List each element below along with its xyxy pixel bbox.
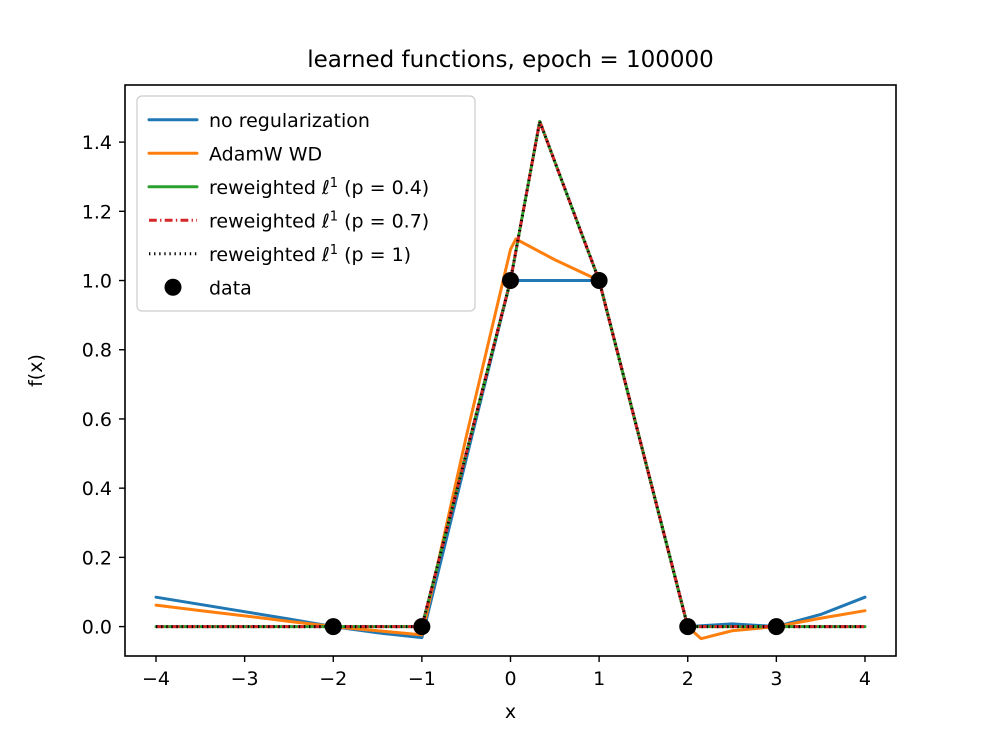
y-tick-label: 0.0 [82,617,112,639]
data-point-marker [679,618,696,635]
x-axis-label: x [505,701,516,723]
data-point-marker [591,272,608,289]
x-tick-label: −2 [319,668,347,690]
x-tick-label: 1 [593,668,605,690]
data-point-marker [413,618,430,635]
legend-label: AdamW WD [209,143,322,165]
legend-label: reweighted ℓ1 (p = 1) [209,242,411,266]
x-tick-label: 2 [682,668,694,690]
y-tick-label: 1.4 [82,132,112,154]
chart-title: learned functions, epoch = 100000 [307,47,714,73]
x-tick-label: −3 [231,668,259,690]
data-point-marker [325,618,342,635]
x-tick-label: 3 [770,668,782,690]
x-tick-label: 4 [859,668,871,690]
x-tick-label: 0 [504,668,516,690]
y-tick-label: 1.0 [82,271,112,293]
y-axis-label: f(x) [25,354,47,387]
legend-label: reweighted ℓ1 (p = 0.4) [209,175,429,199]
legend-label: data [209,277,252,299]
figure-canvas: learned functions, epoch = 100000−4−3−2−… [0,0,996,747]
x-tick-label: −1 [408,668,436,690]
chart-plot: learned functions, epoch = 100000−4−3−2−… [0,0,996,747]
y-tick-label: 0.4 [82,478,112,500]
y-tick-label: 0.8 [82,340,112,362]
data-point-marker [768,618,785,635]
y-tick-label: 0.6 [82,409,112,431]
y-tick-label: 0.2 [82,547,112,569]
legend-label: no regularization [209,110,370,132]
legend-marker-icon [165,279,182,296]
legend-label: reweighted ℓ1 (p = 0.7) [209,209,429,233]
x-tick-label: −4 [142,668,170,690]
data-point-marker [502,272,519,289]
legend: no regularizationAdamW WDreweighted ℓ1 (… [137,96,475,311]
y-tick-label: 1.2 [82,201,112,223]
